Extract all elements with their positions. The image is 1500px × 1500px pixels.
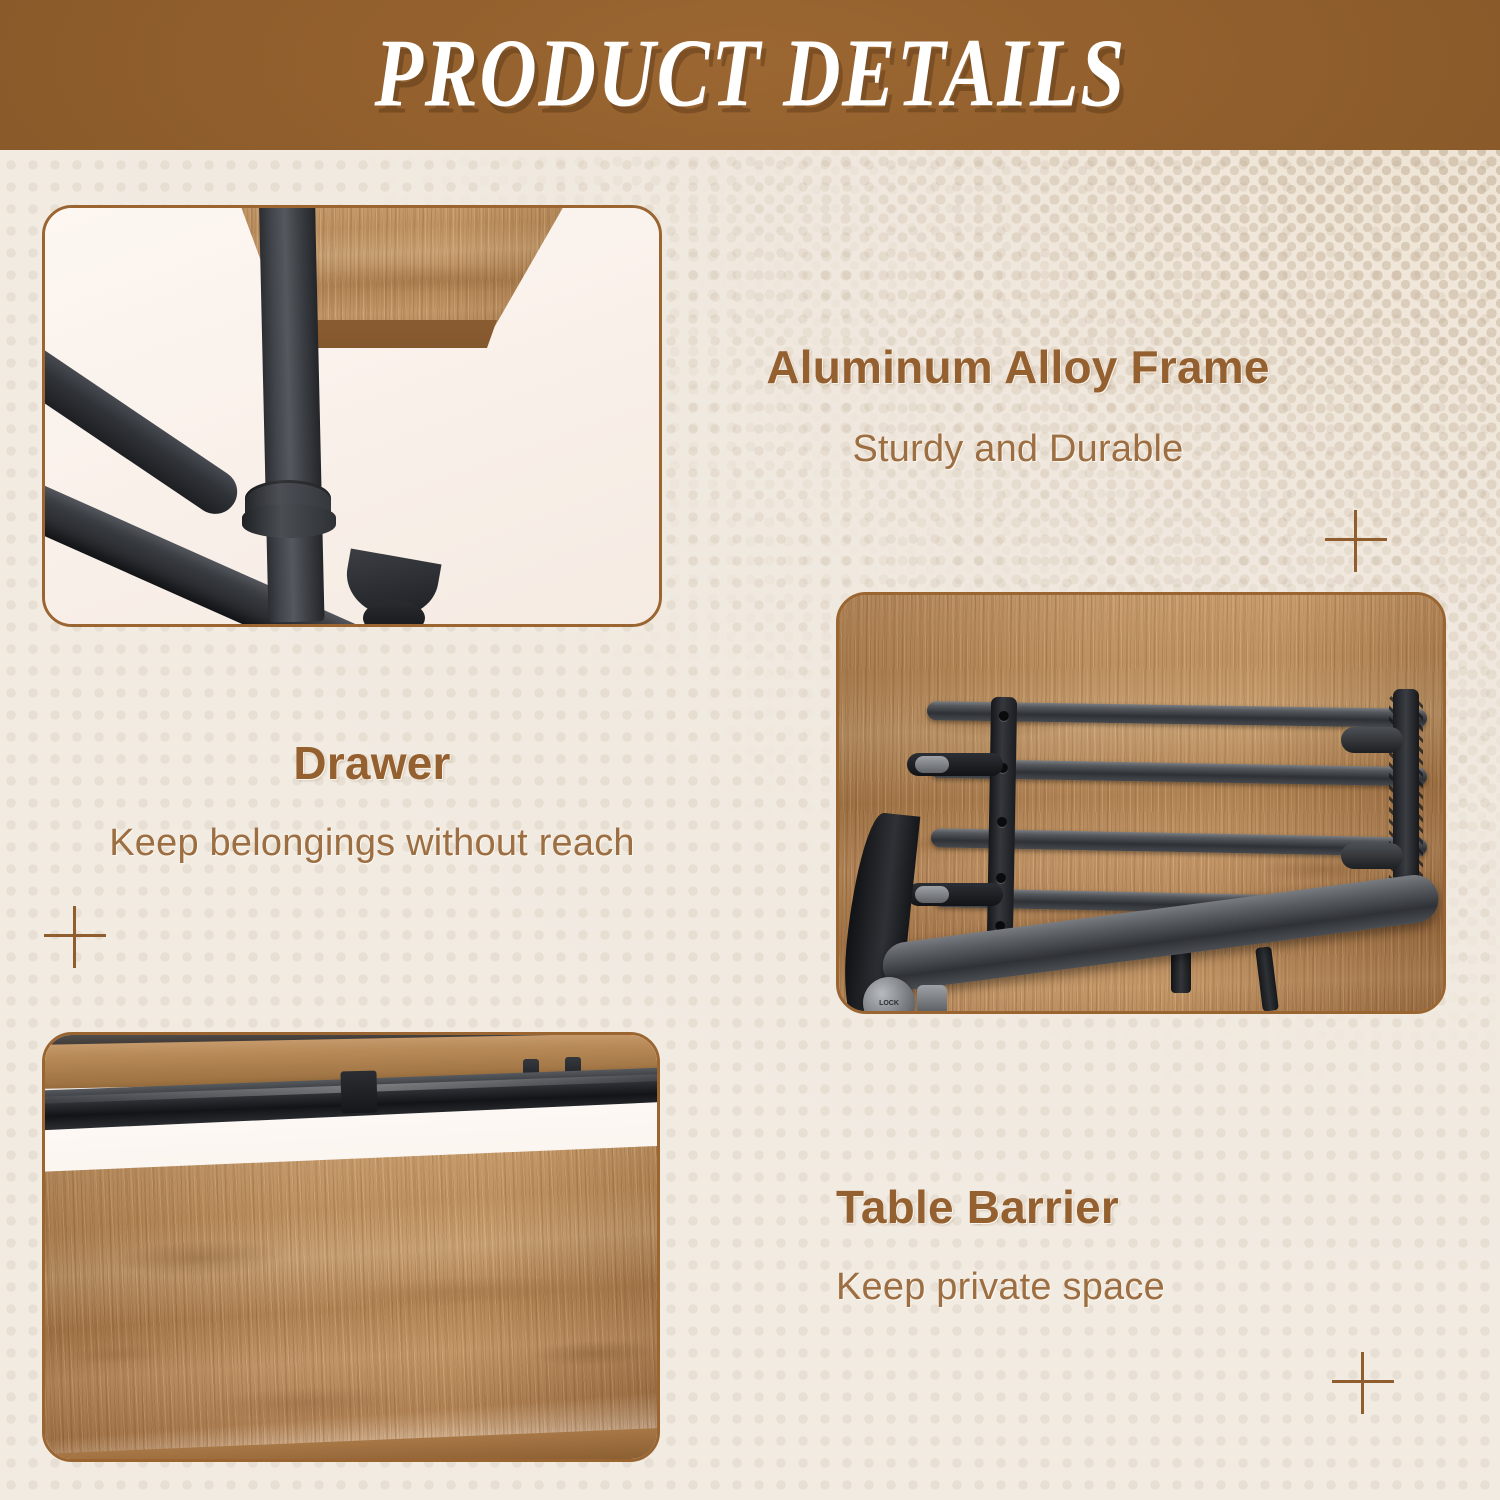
rail-end-cap xyxy=(1341,727,1403,753)
frame-detail-photo-panel xyxy=(42,205,662,627)
page-title-text: PRODUCT DETAILS xyxy=(374,25,1126,122)
drawer-detail-photo-panel: LOCK xyxy=(836,592,1446,1014)
feature-title: Drawer xyxy=(52,738,692,789)
barrier-photo-artwork xyxy=(45,1035,657,1459)
tabletop-surface xyxy=(42,1143,660,1462)
feature-subtitle: Keep private space xyxy=(836,1267,1396,1309)
barrier-detail-photo-panel xyxy=(42,1032,660,1462)
screw-hole xyxy=(997,817,1007,827)
feature-subtitle: Sturdy and Durable xyxy=(718,429,1318,471)
lock-release-button xyxy=(917,985,947,1014)
drawer-photo-artwork: LOCK xyxy=(839,595,1443,1011)
barrier-mount-clip xyxy=(340,1071,377,1114)
bracket-pin xyxy=(915,756,949,773)
page-title: PRODUCT DETAILS xyxy=(0,25,1500,122)
feature-text-drawer: Drawer Keep belongings without reach xyxy=(52,738,692,864)
feature-title: Aluminum Alloy Frame xyxy=(718,342,1318,393)
feature-text-table-barrier: Table Barrier Keep private space xyxy=(836,1182,1396,1308)
leg-collar-ring-lower xyxy=(242,504,336,538)
feature-subtitle: Keep belongings without reach xyxy=(52,823,692,865)
rail-end-cap xyxy=(1341,843,1403,869)
lock-dial-label: LOCK xyxy=(879,1000,899,1007)
feature-text-aluminum-alloy-frame: Aluminum Alloy Frame Sturdy and Durable xyxy=(718,342,1318,470)
bracket-pin xyxy=(915,886,949,903)
frame-photo-artwork xyxy=(45,208,659,624)
header-banner: PRODUCT DETAILS xyxy=(0,0,1500,150)
table-leg-column xyxy=(259,205,325,623)
product-details-infographic: PRODUCT DETAILS xyxy=(0,0,1500,1500)
drawer-mount-bracket-left xyxy=(987,697,1017,943)
screw-hole xyxy=(999,711,1009,721)
feature-title: Table Barrier xyxy=(836,1182,1396,1233)
screw-hole xyxy=(996,873,1006,883)
wood-shading xyxy=(42,1143,660,1462)
